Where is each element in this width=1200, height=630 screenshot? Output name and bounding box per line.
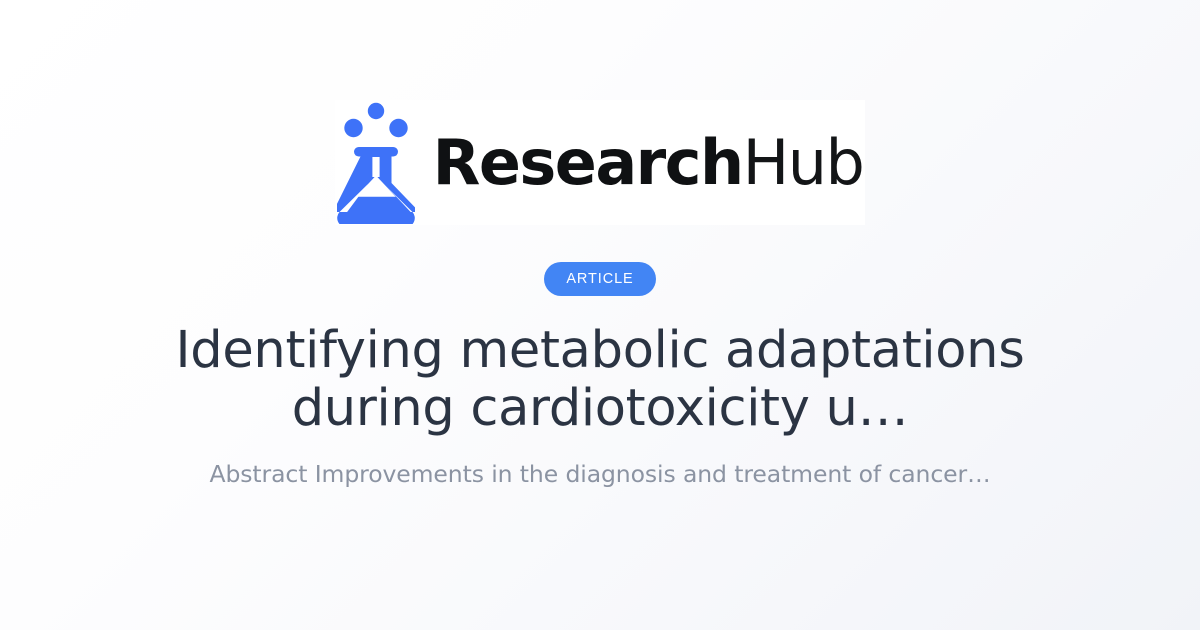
logo-panel: ResearchHub — [335, 100, 866, 225]
page-subtitle: Abstract Improvements in the diagnosis a… — [70, 459, 1130, 490]
wordmark: ResearchHub — [433, 132, 864, 194]
og-preview-card: ResearchHub ARTICLE Identifying metaboli… — [0, 0, 1200, 630]
page-title-line-1: Identifying metabolic adaptations — [100, 322, 1100, 380]
page-title-line-2: during cardiotoxicity u… — [100, 380, 1100, 438]
brand-logo[interactable]: ResearchHub — [335, 102, 866, 224]
flask-icon — [337, 102, 415, 224]
wordmark-research: Research — [433, 132, 743, 194]
content-type-badge[interactable]: ARTICLE — [544, 262, 655, 296]
wordmark-hub: Hub — [743, 132, 864, 194]
page-title: Identifying metabolic adaptations during… — [100, 322, 1100, 437]
